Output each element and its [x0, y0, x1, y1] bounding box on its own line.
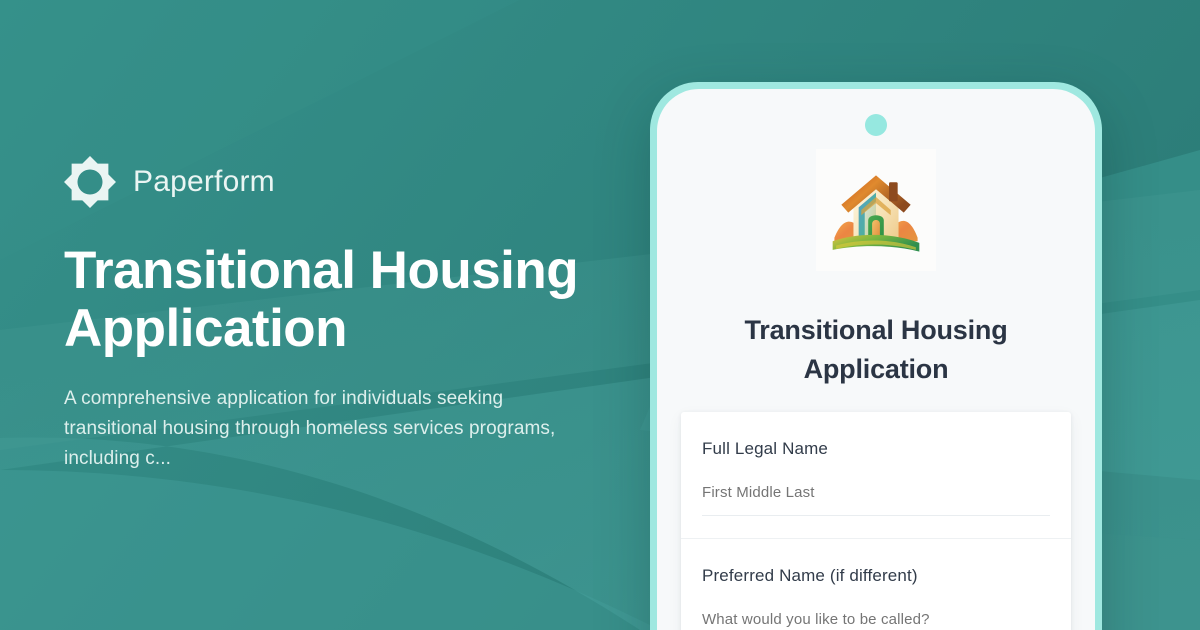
form-logo-container [816, 149, 936, 271]
field-label: Preferred Name (if different) [702, 565, 1050, 587]
page-title: Transitional Housing Application [64, 242, 584, 358]
hero-content: Paperform Transitional Housing Applicati… [64, 0, 624, 630]
brand-lockup: Paperform [64, 156, 624, 208]
house-logo-icon [824, 158, 928, 262]
form-title: Transitional Housing Application [685, 311, 1067, 389]
preferred-name-input[interactable] [702, 610, 1050, 630]
brand-name: Paperform [133, 167, 275, 197]
field-spacer [702, 516, 1050, 538]
field-full-legal-name[interactable]: Full Legal Name [681, 412, 1071, 538]
field-label: Full Legal Name [702, 438, 1050, 460]
form-card: Full Legal Name Preferred Name (if diffe… [681, 412, 1071, 630]
phone-screen: Transitional Housing Application Full Le… [657, 89, 1095, 630]
page-description: A comprehensive application for individu… [64, 384, 589, 474]
camera-dot-icon [865, 114, 887, 136]
paperform-logo-icon [64, 156, 116, 208]
phone-mockup: Transitional Housing Application Full Le… [650, 82, 1102, 630]
full-legal-name-input[interactable] [702, 483, 1050, 516]
field-preferred-name[interactable]: Preferred Name (if different) [681, 538, 1071, 630]
